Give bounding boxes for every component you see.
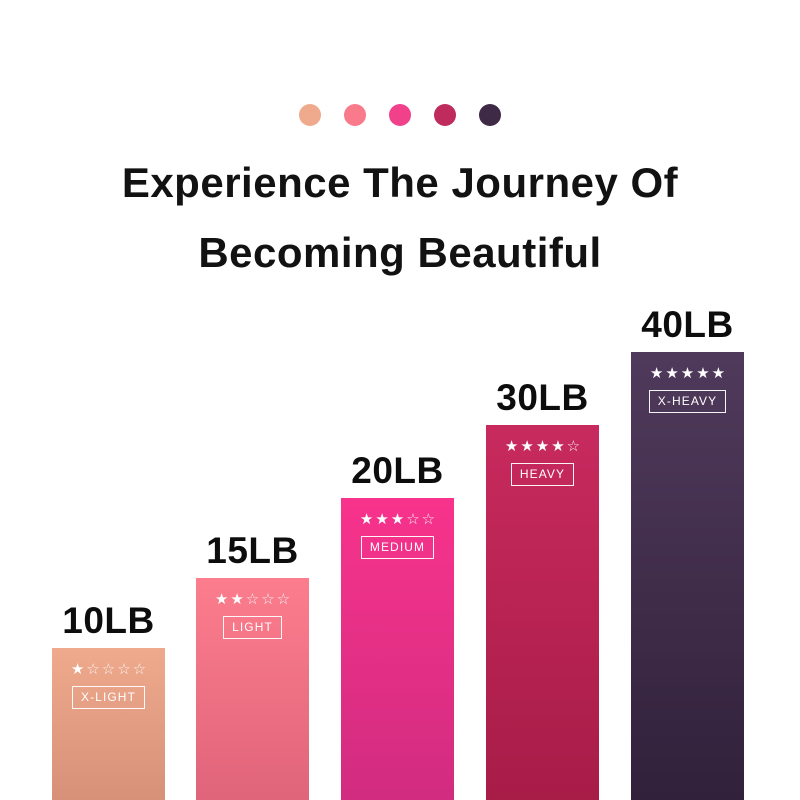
star-filled-icon: ★	[215, 592, 228, 607]
star-empty-icon: ☆	[422, 512, 435, 527]
color-swatch-row	[0, 104, 800, 126]
star-filled-icon: ★	[360, 512, 373, 527]
star-filled-icon: ★	[696, 366, 709, 381]
dot-x-heavy-icon	[479, 104, 501, 126]
rating-stars: ★★☆☆☆	[215, 592, 290, 607]
resistance-level-badge: LIGHT	[223, 616, 282, 639]
resistance-level-badge: HEAVY	[511, 463, 574, 486]
bar-x-heavy[interactable]: 40LB★★★★★X-HEAVY	[631, 352, 744, 800]
star-empty-icon: ☆	[406, 512, 419, 527]
page-title: Experience The Journey Of Becoming Beaut…	[0, 148, 800, 288]
dot-light-icon	[344, 104, 366, 126]
star-empty-icon: ☆	[117, 662, 130, 677]
star-empty-icon: ☆	[102, 662, 115, 677]
star-filled-icon: ★	[681, 366, 694, 381]
bar-fill: ★★★★★X-HEAVY	[631, 352, 744, 800]
bar-x-light[interactable]: 10LB★☆☆☆☆X-LIGHT	[52, 648, 165, 800]
bar-weight-label: 10LB	[38, 600, 179, 648]
bar-light[interactable]: 15LB★★☆☆☆LIGHT	[196, 578, 309, 800]
star-empty-icon: ☆	[133, 662, 146, 677]
star-empty-icon: ☆	[86, 662, 99, 677]
star-filled-icon: ★	[551, 439, 564, 454]
star-empty-icon: ☆	[246, 592, 259, 607]
bar-medium[interactable]: 20LB★★★☆☆MEDIUM	[341, 498, 454, 800]
star-filled-icon: ★	[712, 366, 725, 381]
page-title-line-2: Becoming Beautiful	[0, 218, 800, 288]
dot-medium-icon	[389, 104, 411, 126]
bar-fill: ★★☆☆☆LIGHT	[196, 578, 309, 800]
bar-heavy[interactable]: 30LB★★★★☆HEAVY	[486, 425, 599, 800]
resistance-level-badge: X-HEAVY	[649, 390, 727, 413]
bar-weight-label: 15LB	[182, 530, 323, 578]
rating-stars: ★★★★★	[650, 366, 725, 381]
star-filled-icon: ★	[650, 366, 663, 381]
infographic-canvas: Experience The Journey Of Becoming Beaut…	[0, 0, 800, 800]
dot-heavy-icon	[434, 104, 456, 126]
bar-weight-label: 20LB	[327, 450, 468, 498]
star-empty-icon: ☆	[277, 592, 290, 607]
rating-stars: ★★★☆☆	[360, 512, 435, 527]
bar-weight-label: 40LB	[617, 304, 758, 352]
resistance-level-badge: MEDIUM	[361, 536, 434, 559]
resistance-bar-chart: 10LB★☆☆☆☆X-LIGHT15LB★★☆☆☆LIGHT20LB★★★☆☆M…	[0, 280, 800, 800]
bar-fill: ★★★★☆HEAVY	[486, 425, 599, 800]
rating-stars: ★☆☆☆☆	[71, 662, 146, 677]
star-empty-icon: ☆	[567, 439, 580, 454]
page-title-line-1: Experience The Journey Of	[0, 148, 800, 218]
resistance-level-badge: X-LIGHT	[72, 686, 145, 709]
bar-fill: ★☆☆☆☆X-LIGHT	[52, 648, 165, 800]
star-filled-icon: ★	[71, 662, 84, 677]
star-filled-icon: ★	[391, 512, 404, 527]
dot-x-light-icon	[299, 104, 321, 126]
star-filled-icon: ★	[230, 592, 243, 607]
rating-stars: ★★★★☆	[505, 439, 580, 454]
star-filled-icon: ★	[505, 439, 518, 454]
star-filled-icon: ★	[665, 366, 678, 381]
star-filled-icon: ★	[520, 439, 533, 454]
bar-fill: ★★★☆☆MEDIUM	[341, 498, 454, 800]
star-empty-icon: ☆	[261, 592, 274, 607]
star-filled-icon: ★	[536, 439, 549, 454]
bar-weight-label: 30LB	[472, 377, 613, 425]
star-filled-icon: ★	[375, 512, 388, 527]
